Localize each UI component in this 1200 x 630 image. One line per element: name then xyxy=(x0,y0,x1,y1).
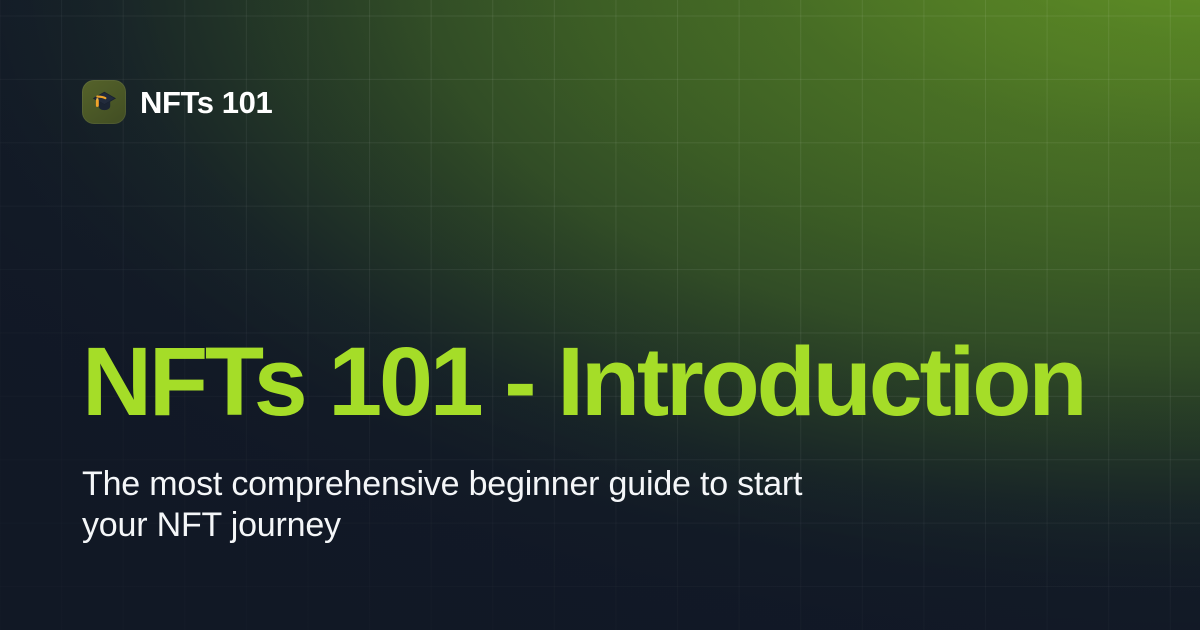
brand-lockup: NFTs 101 xyxy=(82,80,272,124)
card-content: NFTs 101 NFTs 101 - Introduction The mos… xyxy=(0,0,1200,630)
page-title: NFTs 101 - Introduction xyxy=(82,333,1140,430)
brand-logo-badge xyxy=(82,80,126,124)
og-card: NFTs 101 NFTs 101 - Introduction The mos… xyxy=(0,0,1200,630)
graduation-cap-icon xyxy=(89,87,119,117)
headline-block: NFTs 101 - Introduction The most compreh… xyxy=(82,333,1140,547)
brand-name: NFTs 101 xyxy=(140,87,272,118)
page-subtitle: The most comprehensive beginner guide to… xyxy=(82,464,872,547)
